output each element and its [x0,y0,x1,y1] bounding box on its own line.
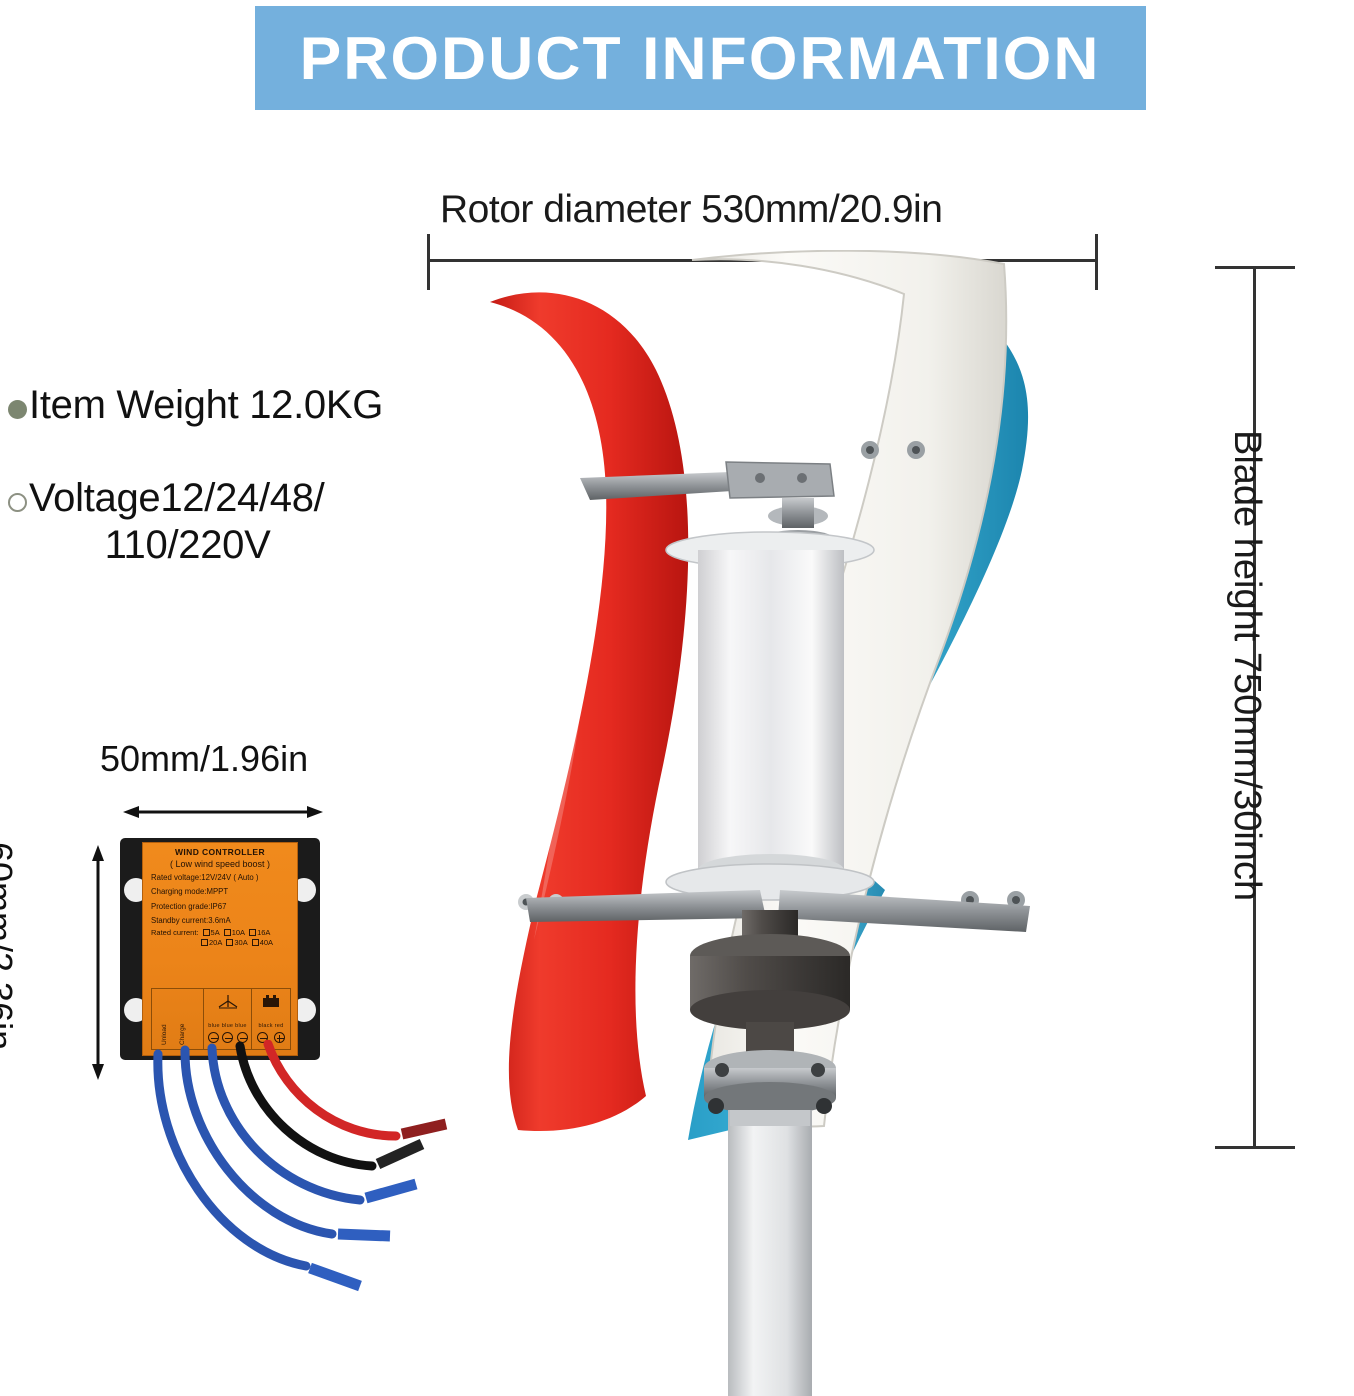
spec-item-voltage-wrap: Voltage12/24/48/ 110/220V [29,475,324,569]
arm-bolt-icon [797,473,807,483]
wind-turbine-icon [215,993,241,1011]
blade-bolt-center-icon [1012,896,1020,904]
battery-icon [261,994,281,1008]
blade-bolt-center-icon [912,446,920,454]
wire-connector-blue-3 [366,1184,416,1198]
mount-flange-bottom [704,1082,836,1114]
wire-connector-blue-1 [310,1268,360,1286]
blade-height-tick-top [1215,266,1295,269]
controller-width-label: 50mm/1.96in [100,738,308,780]
controller-spec-protection-grade: Protection grade:IP67 [143,901,297,912]
hub-shaft-top [782,498,814,528]
wire-blue-1 [158,1054,306,1266]
controller-height-label: 60mm/2.36in [0,842,20,1092]
list-item: Item Weight 12.0KG [8,382,468,429]
checkbox-icon[interactable] [203,929,210,936]
current-option-10a: 10A [232,928,245,937]
generator-body [698,550,844,870]
turbine-wire-names: blue blue blue [204,1023,251,1029]
controller-rated-current-row2: 20A30A40A [143,938,297,947]
blade-height-label: Blade height 750mm/30inch [1208,430,1268,990]
controller-title: WIND CONTROLLER [143,847,297,857]
controller-spec-charging-mode: Charging mode:MPPT [143,886,297,897]
blade-bolt-center-icon [866,446,874,454]
upper-arm-bracket [726,462,834,498]
battery-wire-names: black red [252,1023,290,1029]
rotor-diameter-label: Rotor diameter 530mm/20.9in [440,188,942,232]
flange-bolt-icon [708,1098,724,1114]
controller-rated-current-row1: Rated current:5A10A16A [143,928,297,937]
current-option-20a: 20A [209,938,222,947]
product-information-page: PRODUCT INFORMATION Rotor diameter 530mm… [0,0,1354,1396]
wire-red [268,1044,396,1136]
controller-subtitle: ( Low wind speed boost ) [143,859,297,869]
checkbox-icon[interactable] [249,929,256,936]
mast-pole [728,1110,812,1396]
current-option-5a: 5A [211,928,220,937]
controller-width-arrow-icon [123,805,323,819]
bullet-dot-filled-icon [8,400,27,419]
wire-connector-black [378,1144,422,1164]
flange-bolt-icon [816,1098,832,1114]
spec-item-voltage-line2: 110/220V [29,522,324,569]
blade-height-tick-bottom [1215,1146,1295,1149]
checkbox-icon[interactable] [224,929,231,936]
mast-collar [730,1110,810,1126]
flange-bolt-icon [715,1063,729,1077]
controller-case: WIND CONTROLLER ( Low wind speed boost )… [120,838,320,1060]
page-title: PRODUCT INFORMATION [300,24,1101,93]
controller-spec-rated-voltage: Rated voltage:12V/24V ( Auto ) [143,872,297,883]
controller-spec-standby-current: Standby current:3.6mA [143,915,297,926]
current-option-40a: 40A [260,938,273,947]
flange-bolt-icon [811,1063,825,1077]
turbine-blade-red [490,292,688,1131]
current-option-30a: 30A [234,938,247,947]
checkbox-icon[interactable] [201,939,208,946]
checkbox-icon[interactable] [226,939,233,946]
current-option-16a: 16A [257,928,270,937]
list-item: Voltage12/24/48/ 110/220V [8,475,468,569]
controller-height-arrow-icon [90,845,106,1080]
wire-connector-blue-2 [338,1234,390,1236]
controller-label-face: WIND CONTROLLER ( Low wind speed boost )… [142,842,298,1056]
spec-item-weight: Item Weight 12.0KG [29,382,383,429]
checkbox-icon[interactable] [252,939,259,946]
product-information-banner: PRODUCT INFORMATION [255,6,1146,110]
rated-current-label: Rated current: [151,928,199,937]
bullet-dot-hollow-icon [8,493,27,512]
spec-list: Item Weight 12.0KG Voltage12/24/48/ 110/… [8,382,468,616]
wind-turbine-product-photo [430,250,1110,1396]
spec-item-voltage: Voltage12/24/48/ [29,476,324,520]
arm-bolt-icon [755,473,765,483]
